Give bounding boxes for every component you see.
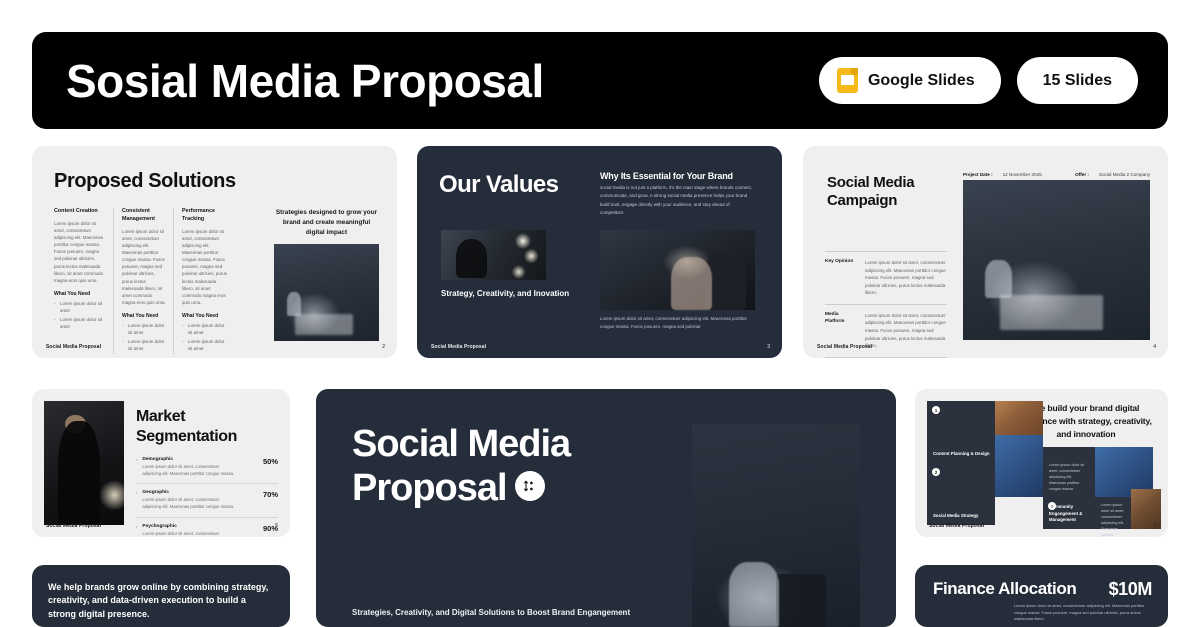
service-label: Content Planning & Design	[933, 451, 990, 457]
solution-columns: Content Creation Lorem ipsum dolor sit a…	[54, 208, 234, 354]
need-bullet: Lorem ipsum dolor sit amet	[122, 338, 166, 352]
column-body: Lorem ipsum dolor sit amet, consectetuer…	[182, 228, 227, 306]
slide-page-number: 2	[382, 344, 385, 350]
slide-footer-brand: Social Media Proposal	[431, 344, 486, 350]
values-subheading: Why Its Essential for Your Brand	[600, 171, 760, 181]
person-photo	[1131, 489, 1161, 529]
slide-count-badge[interactable]: 15 Slides	[1017, 57, 1138, 104]
need-bullet: Lorem ipsum dolor sit amet	[54, 300, 106, 314]
service-label: Community Engangement & Management	[1049, 504, 1090, 523]
desk-photo	[963, 180, 1150, 340]
offer-label: Offer :	[1075, 172, 1089, 177]
service-panel-body-1: Lorem ipsum dolor sit amet, consectetuer…	[1043, 447, 1095, 497]
segment-name: Geographic	[142, 490, 234, 495]
service-card-1: 1 Content Planning & Design	[927, 401, 995, 463]
google-slides-badge[interactable]: Google Slides	[819, 57, 1001, 104]
row-value: Lorem ipsum dolor sit amet, consectetuer…	[865, 312, 947, 350]
slide-page-number: 5	[275, 523, 278, 529]
segment-name: Psychographic	[142, 524, 234, 529]
solution-column: Content Creation Lorem ipsum dolor sit a…	[54, 208, 114, 354]
slide-title: Our Values	[439, 171, 558, 199]
solution-highlight: Strategies designed to grow your brand a…	[274, 208, 379, 341]
highlight-quote: Strategies designed to grow your brand a…	[274, 208, 379, 238]
column-heading: Performance Tracking	[182, 208, 227, 224]
list-item: • Psychographic Lorem ipsum dolor sit am…	[136, 518, 278, 537]
need-bullet: Lorem ipsum dolor sit amet	[122, 322, 166, 336]
workspace-photo	[995, 401, 1043, 435]
slide-page-number: 7	[1153, 523, 1156, 529]
list-item: • Geographic Lorem ipsum dolor sit amet,…	[136, 484, 278, 517]
project-date: Project Date : 12 November 2025	[963, 172, 1042, 177]
column-body: Lorem ipsum dolor sit amet, consectetuer…	[54, 220, 106, 284]
campaign-detail-rows: Key Opinion Lorem ipsum dolor sit amet, …	[825, 251, 947, 358]
step-number: 2	[932, 468, 940, 476]
slide-page-number: 4	[1153, 344, 1156, 350]
slide-card-we-build[interactable]: We build your brand digital presence wit…	[915, 389, 1168, 537]
segment-info: • Geographic Lorem ipsum dolor sit amet,…	[136, 490, 234, 510]
finance-amount: $10M	[1109, 579, 1152, 600]
slide-card-our-values[interactable]: Our Values Why Its Essential for Your Br…	[417, 146, 782, 358]
step-number: 1	[932, 406, 940, 414]
studio-photo	[441, 230, 546, 280]
column-heading: Consistent Management	[122, 208, 166, 224]
offer: Offer : Social Media 2 Company	[1075, 172, 1150, 177]
segment-desc: Lorem ipsum dolor sit amet, consectetuer…	[142, 497, 234, 510]
header-actions: Google Slides 15 Slides	[819, 57, 1138, 104]
slide-card-finance[interactable]: Finance Allocation $10M Lorem ipsum dolo…	[915, 565, 1168, 627]
slide-card-market-segmentation[interactable]: Market Segmentation • Demographic Lorem …	[32, 389, 290, 537]
hero-subtitle: Strategies, Creativity, and Digital Solu…	[352, 607, 630, 619]
campaign-meta: Project Date : 12 November 2025 Offer : …	[963, 172, 1150, 177]
segment-info: • Demographic Lorem ipsum dolor sit amet…	[136, 457, 234, 477]
slide-page-number: 3	[767, 344, 770, 350]
slide-card-proposed-solutions[interactable]: Proposed Solutions Content Creation Lore…	[32, 146, 397, 358]
hero-title-line2: Proposal	[352, 467, 507, 509]
slide-card-hero[interactable]: Social Media Proposal Strategies, Creati…	[316, 389, 896, 627]
bullet-icon: •	[136, 457, 137, 477]
need-label: What You Need	[182, 313, 227, 319]
slide-title: Proposed Solutions	[54, 170, 236, 193]
segment-name: Demographic	[142, 457, 234, 462]
desk-photo	[692, 424, 860, 627]
slide-footer-brand: Social Media Proposal	[929, 523, 984, 529]
segment-desc: Lorem ipsum dolor sit amet, consectetuer…	[142, 531, 234, 537]
slide-title: Social Media Campaign	[827, 174, 947, 211]
need-bullet: Lorem ipsum dolor sit amet	[54, 316, 106, 330]
need-bullet: Lorem ipsum dolor sit amet	[182, 338, 227, 352]
slide-card-campaign[interactable]: Social Media Campaign Project Date : 12 …	[803, 146, 1168, 358]
column-body: Lorem ipsum dolor sit amet, consectetuer…	[122, 228, 166, 306]
desk-photo	[274, 244, 379, 341]
column-heading: Content Creation	[54, 208, 106, 216]
slide-footer-brand: Social Media Proposal	[46, 523, 101, 529]
finance-title: Finance Allocation	[933, 579, 1076, 599]
google-slides-icon	[837, 68, 858, 93]
resize-dots-icon	[515, 471, 545, 501]
service-label: Social Media Strategy	[933, 513, 990, 519]
row-key: Key Opinion	[825, 259, 857, 297]
bullet-icon: •	[136, 490, 137, 510]
panel-body: Lorem ipsum dolor sit amet, consectetuer…	[1101, 503, 1126, 537]
need-label: What You Need	[122, 313, 166, 319]
slide-footer-brand: Social Media Proposal	[46, 344, 101, 350]
offer-value: Social Media 2 Company	[1099, 172, 1150, 177]
slide-card-tagline[interactable]: We help brands grow online by combining …	[32, 565, 290, 627]
google-slides-label: Google Slides	[868, 72, 975, 90]
list-item: • Demographic Lorem ipsum dolor sit amet…	[136, 451, 278, 484]
slide-grid-row-2: Market Segmentation • Demographic Lorem …	[32, 389, 1168, 627]
table-row: Key Opinion Lorem ipsum dolor sit amet, …	[825, 251, 947, 304]
slide-count-label: 15 Slides	[1043, 72, 1112, 90]
values-image-caption: Lorem ipsum dolor sit amet, consectetuer…	[600, 315, 755, 332]
segmentation-list: • Demographic Lorem ipsum dolor sit amet…	[136, 451, 278, 537]
values-caption: Strategy, Creativity, and Inovation	[441, 288, 569, 300]
solution-column: Performance Tracking Lorem ipsum dolor s…	[174, 208, 234, 354]
slide-grid-row-1: Proposed Solutions Content Creation Lore…	[32, 146, 1168, 358]
panel-body: Lorem ipsum dolor sit amet, consectetuer…	[1049, 463, 1090, 493]
segment-percent: 70%	[263, 490, 278, 499]
tagline-text: We help brands grow online by combining …	[48, 581, 276, 621]
segment-info: • Psychographic Lorem ipsum dolor sit am…	[136, 524, 234, 537]
service-panel-body-2: Lorem ipsum dolor sit amet, consectetuer…	[1095, 497, 1131, 529]
values-body: social media is not just a platform, it'…	[600, 184, 755, 217]
project-date-value: 12 November 2025	[1003, 172, 1042, 177]
page-header: Sosial Media Proposal Google Slides 15 S…	[32, 32, 1168, 129]
service-card-2: 2 Social Media Strategy	[927, 463, 995, 525]
segment-percent: 50%	[263, 457, 278, 466]
segment-desc: Lorem ipsum dolor sit amet, consectetuer…	[142, 464, 234, 477]
team-photo	[600, 230, 755, 310]
need-label: What You Need	[54, 291, 106, 297]
page-title: Sosial Media Proposal	[66, 58, 544, 104]
hero-title: Social Media Proposal	[352, 422, 652, 511]
proposal-preview-page: Sosial Media Proposal Google Slides 15 S…	[0, 0, 1200, 627]
row-value: Lorem ipsum dolor sit amet, consectetuer…	[865, 259, 947, 297]
bullet-icon: •	[136, 524, 137, 537]
hero-title-line1: Social Media	[352, 423, 570, 465]
slide-footer-brand: Social Media Proposal	[817, 344, 872, 350]
portrait-photo	[44, 401, 124, 525]
solution-column: Consistent Management Lorem ipsum dolor …	[114, 208, 174, 354]
team-photo	[995, 435, 1043, 497]
need-bullet: Lorem ipsum dolor sit amet	[182, 322, 227, 336]
finance-body: Lorem ipsum dolor sit amet, consectetuer…	[1014, 603, 1152, 623]
slide-title: Market Segmentation	[136, 407, 290, 446]
service-card-3: 3 Community Engangement & Management	[1043, 497, 1095, 529]
project-date-label: Project Date :	[963, 172, 993, 177]
